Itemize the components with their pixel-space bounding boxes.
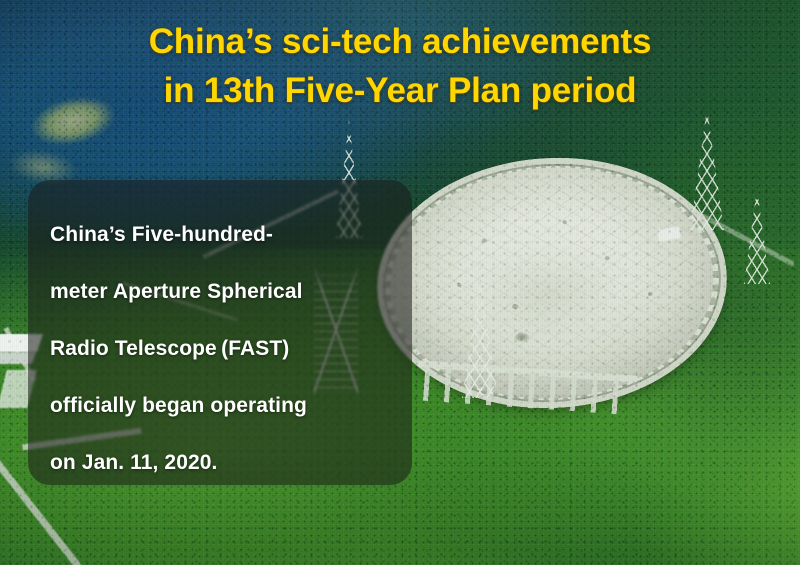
poster: China’s sci-tech achievements in 13th Fi… [0, 0, 800, 565]
caption-panel: China’s Five-hundred- meter Aperture Sph… [28, 180, 412, 485]
caption-line-2: meter Aperture Spherical [50, 263, 388, 320]
caption-line-3: Radio Telescope (FAST) [50, 320, 388, 377]
caption-line-1: China’s Five-hundred- [50, 206, 388, 263]
caption-line-5: on Jan. 11, 2020. [50, 434, 388, 491]
caption-line-4: officially began operating [50, 377, 388, 434]
